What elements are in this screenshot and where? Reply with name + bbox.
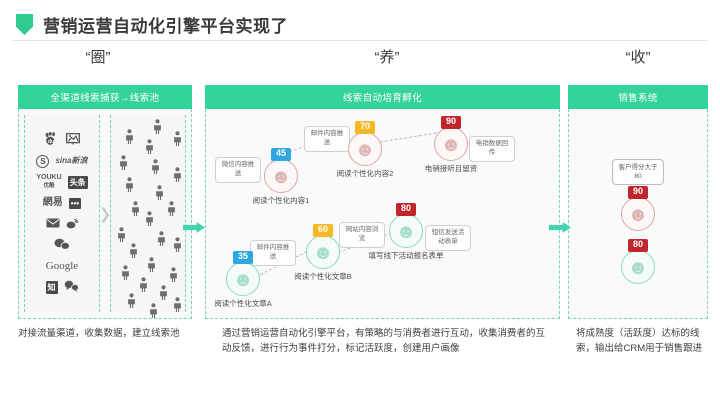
- netease-logo: 網易: [43, 198, 63, 208]
- email-envelope-logo: [46, 218, 60, 230]
- panel-left-header: 全渠道线索捕获→线索池: [18, 85, 192, 109]
- person-icon: [173, 297, 182, 314]
- person-icon: [167, 201, 176, 218]
- avatar: ☻: [264, 159, 298, 193]
- person-icon: [139, 277, 148, 294]
- person-icon: [147, 257, 156, 274]
- node-r1-read-content-1[interactable]: 45 ☻ 阅读个性化内容1: [264, 159, 298, 193]
- tag-website-content-browse: 网站内容浏览: [339, 222, 385, 248]
- svg-text:du: du: [48, 139, 54, 145]
- tag-customer-score-filter: 客户得分大于80: [612, 159, 664, 185]
- media-image-logo: [66, 133, 80, 147]
- sohu-logo: S: [36, 155, 49, 168]
- panel-right-body: 客户得分大于80 90 ☻ 80 ☻: [568, 109, 708, 319]
- node-r1-telesales-answered[interactable]: 90 ☻ 电销接听且留资: [434, 127, 468, 161]
- avatar: ☻: [226, 262, 260, 296]
- node-label: 阅读个性化文章B: [277, 272, 369, 282]
- person-icon: [169, 267, 178, 284]
- person-icon: [153, 119, 162, 136]
- person-icon: [173, 131, 182, 148]
- avatar: ☻: [621, 250, 655, 284]
- panel-channel-capture: 全渠道线索捕获→线索池 du S: [18, 85, 192, 319]
- desc-left: 对接流量渠道，收集数据，建立线索池: [18, 326, 198, 341]
- panel-left-body: du S sina新浪 YOUKU优酷 头条 網易 •••: [18, 109, 192, 319]
- toutiao-logo: 头条: [68, 176, 88, 189]
- person-icon: [131, 201, 140, 218]
- node-r2-read-article-b[interactable]: 60 ☻ 阅读个性化文章B: [306, 235, 340, 269]
- page-title-row: 营销运营自动化引擎平台实现了: [16, 12, 288, 37]
- channel-logo-column: du S sina新浪 YOUKU优酷 头条 網易 •••: [24, 115, 100, 312]
- face-icon: ☻: [354, 140, 375, 160]
- face-icon: ☻: [232, 270, 253, 290]
- panel-mid-header: 线索自动培育孵化: [205, 85, 560, 109]
- person-icon: [145, 139, 154, 156]
- tag-wechat-content-push: 微信内容推送: [215, 157, 261, 183]
- score-badge: 80: [628, 239, 648, 252]
- score-badge: 90: [441, 116, 461, 129]
- desc-right: 将成熟度（活跃度）达标的线索，输出给CRM用于销售跟进: [576, 326, 708, 356]
- person-icon: [125, 129, 134, 146]
- score-badge: 90: [628, 186, 648, 199]
- person-icon: [129, 243, 138, 260]
- avatar: ☻: [348, 132, 382, 166]
- person-icon: [157, 231, 166, 248]
- node-r2-read-article-a[interactable]: 35 ☻ 阅读个性化文章A: [226, 262, 260, 296]
- panel-mid-body: 微信内容推送 邮件内容推送 电销数据回传 45 ☻ 阅读个性化内容1 70 ☻ …: [205, 109, 560, 319]
- zhihu-logo: 知: [46, 281, 58, 294]
- person-icon: [159, 285, 168, 302]
- score-badge: 70: [355, 121, 375, 134]
- person-icon: [145, 211, 154, 228]
- chevron-right-icon: ❯: [99, 205, 112, 223]
- wechat-logo: [54, 238, 71, 252]
- score-badge: 80: [396, 203, 416, 216]
- person-icon: [149, 303, 158, 320]
- page-title: 营销运营自动化引擎平台实现了: [43, 12, 288, 37]
- avatar: ☻: [621, 197, 655, 231]
- avatar: ☻: [434, 127, 468, 161]
- shield-icon: [16, 14, 33, 35]
- avatar: ☻: [306, 235, 340, 269]
- person-icon: [173, 167, 182, 184]
- comment-bubbles-logo: [64, 280, 79, 294]
- person-icon: [125, 177, 134, 194]
- avatar: ☻: [389, 214, 423, 248]
- channel-logo-grid: du S sina新浪 YOUKU优酷 头条 網易 •••: [25, 115, 99, 312]
- face-icon: ☻: [270, 167, 291, 187]
- face-icon: ☻: [440, 135, 461, 155]
- score-badge: 60: [313, 224, 333, 237]
- face-icon: ☻: [627, 205, 648, 225]
- baidu-logo: du: [45, 132, 60, 148]
- people-scatter: [111, 115, 185, 312]
- panel-sales-system: 销售系统 客户得分大于80 90 ☻ 80 ☻: [568, 85, 708, 319]
- person-icon: [119, 155, 128, 172]
- panel-right-header: 销售系统: [568, 85, 708, 109]
- face-icon: ☻: [627, 258, 648, 278]
- node-right-score-90[interactable]: 90 ☻: [621, 197, 655, 231]
- person-icon: [121, 265, 130, 282]
- weibo-logo: [66, 218, 79, 231]
- lead-pool-column: [110, 115, 186, 312]
- node-label: 阅读个性化文章A: [197, 299, 289, 309]
- google-logo: Google: [46, 260, 78, 272]
- face-icon: ☻: [312, 243, 333, 263]
- tag-sms-campaign-form: 短信发送活动表单: [425, 225, 471, 251]
- face-icon: ☻: [395, 222, 416, 242]
- person-icon: [173, 237, 182, 254]
- tag-email-content-push: 邮件内容推送: [304, 126, 350, 152]
- title-divider: [12, 40, 708, 41]
- sina-weibo-logo: sina新浪: [55, 157, 87, 165]
- score-badge: 35: [233, 251, 253, 264]
- node-label: 阅读个性化内容1: [235, 196, 327, 206]
- node-r2-offline-event-form[interactable]: 80 ☻ 填写线下活动报名表单: [389, 214, 423, 248]
- panel-lead-nurturing: 线索自动培育孵化 微信内容推送 邮件内容推送 电销数据回传 45 ☻ 阅读个性化…: [205, 85, 560, 319]
- person-icon: [151, 159, 160, 176]
- desc-mid: 通过营销运营自动化引擎平台，有策略的与消费者进行互动，收集消费者的互动反馈，进行…: [222, 326, 552, 356]
- person-icon: [155, 185, 164, 202]
- node-r1-read-content-2[interactable]: 70 ☻ 阅读个性化内容2: [348, 132, 382, 166]
- tag-telesales-data-return: 电销数据回传: [469, 136, 515, 162]
- stage-caption-shou: “收”: [568, 46, 708, 67]
- chat-bubble-logo: •••: [69, 198, 81, 209]
- node-label: 阅读个性化内容2: [319, 169, 411, 179]
- person-icon: [117, 227, 126, 244]
- youku-logo: YOUKU优酷: [36, 174, 61, 189]
- stage-caption-yang: “养”: [212, 46, 562, 67]
- node-label: 填写线下活动报名表单: [360, 251, 452, 261]
- stage-caption-quan: “圈”: [18, 46, 178, 67]
- node-label: 电销接听且留资: [405, 164, 497, 174]
- score-badge: 45: [271, 148, 291, 161]
- node-right-score-80[interactable]: 80 ☻: [621, 250, 655, 284]
- person-icon: [127, 293, 136, 310]
